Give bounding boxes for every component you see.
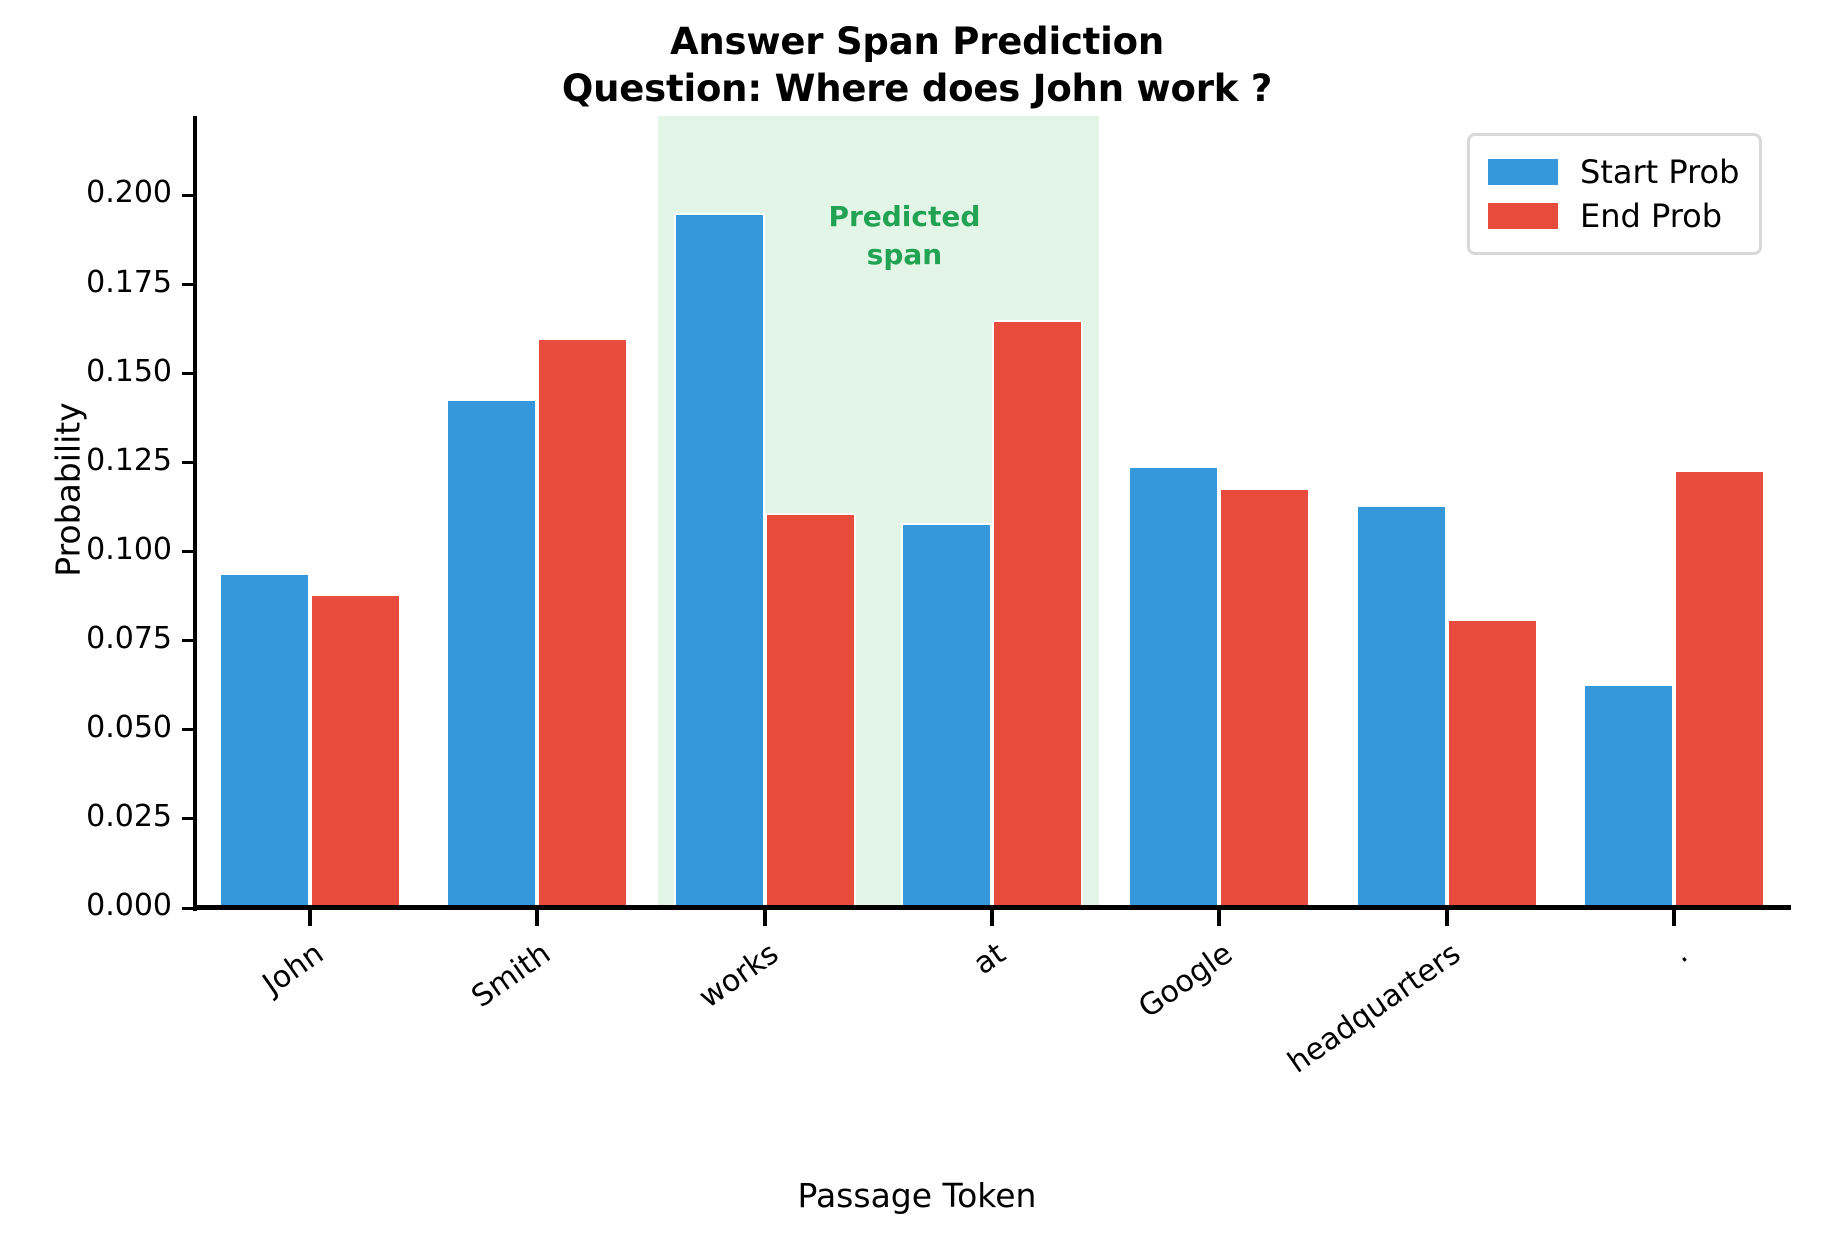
y-tick-mark	[182, 550, 194, 553]
legend-swatch-icon	[1488, 159, 1558, 185]
x-tick-mark	[1672, 910, 1676, 926]
y-tick-label: 0.100	[86, 532, 172, 567]
x-tick-mark	[1217, 910, 1221, 926]
chart-legend[interactable]: Start ProbEnd Prob	[1467, 133, 1762, 255]
chart-title-line-1: Answer Span Prediction	[0, 18, 1834, 65]
x-tick-mark	[990, 910, 994, 926]
bar	[1219, 488, 1310, 908]
x-tick-mark	[535, 910, 539, 926]
legend-item[interactable]: End Prob	[1488, 194, 1739, 238]
legend-item[interactable]: Start Prob	[1488, 150, 1739, 194]
legend-swatch-icon	[1488, 203, 1558, 229]
bar	[1128, 466, 1219, 908]
x-tick-mark	[308, 910, 312, 926]
bar	[765, 513, 856, 908]
bar	[1356, 505, 1447, 908]
x-tick-mark	[1445, 910, 1449, 926]
chart-title: Answer Span Prediction Question: Where d…	[0, 18, 1834, 112]
x-tick-mark	[763, 910, 767, 926]
y-tick-mark	[182, 817, 194, 820]
chart-title-line-2: Question: Where does John work ?	[0, 65, 1834, 112]
y-tick-label: 0.125	[86, 443, 172, 478]
y-tick-mark	[182, 728, 194, 731]
bar	[219, 573, 310, 908]
legend-label: Start Prob	[1580, 153, 1739, 191]
bar	[674, 213, 765, 908]
y-tick-label: 0.200	[86, 175, 172, 210]
chart-figure: Answer Span Prediction Question: Where d…	[0, 0, 1834, 1234]
y-tick-label: 0.050	[86, 710, 172, 745]
y-tick-mark	[182, 283, 194, 286]
bar	[901, 523, 992, 908]
bar	[310, 594, 401, 908]
y-tick-mark	[182, 907, 194, 910]
y-tick-label: 0.075	[86, 621, 172, 656]
y-tick-mark	[182, 639, 194, 642]
y-tick-label: 0.175	[86, 265, 172, 300]
y-tick-mark	[182, 372, 194, 375]
y-tick-label: 0.150	[86, 354, 172, 389]
y-axis-spine	[193, 116, 197, 911]
bar	[1447, 619, 1538, 908]
bar	[1674, 470, 1765, 908]
x-axis-label: Passage Token	[0, 1176, 1834, 1215]
legend-label: End Prob	[1580, 197, 1722, 235]
bar	[1583, 684, 1674, 908]
y-tick-label: 0.000	[86, 888, 172, 923]
y-axis-label: Probability	[49, 140, 88, 840]
y-tick-mark	[182, 194, 194, 197]
bar	[537, 338, 628, 908]
bar	[992, 320, 1083, 908]
y-tick-label: 0.025	[86, 799, 172, 834]
bar	[446, 399, 537, 908]
y-tick-mark	[182, 461, 194, 464]
